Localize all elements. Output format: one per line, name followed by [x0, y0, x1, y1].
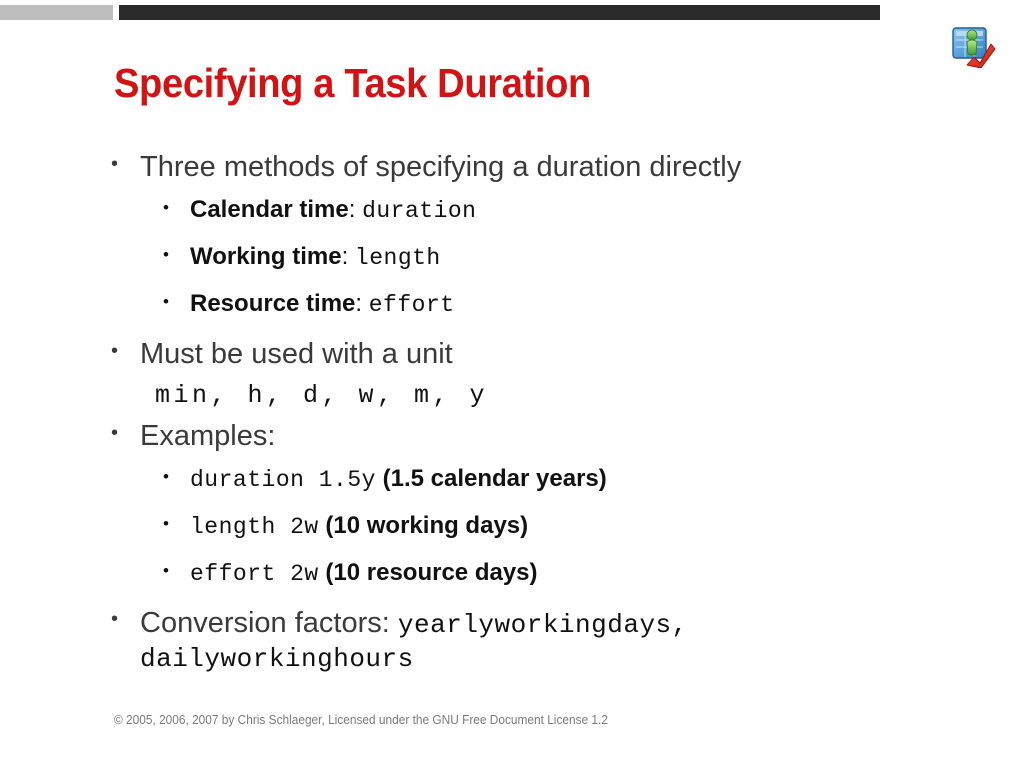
bullet-level1-examples: Examples:: [0, 421, 1024, 453]
list-item: Resource time: effort: [0, 291, 1024, 318]
example-code: length 2w: [190, 514, 319, 540]
sub-bullet-label: Resource time: [190, 290, 355, 317]
bullet-level1-three-methods: Three methods of specifying a duration d…: [0, 152, 1024, 184]
sub-bullet-group-examples: duration 1.5y (1.5 calendar years) lengt…: [0, 466, 1024, 588]
bullet-text: Examples:: [140, 420, 275, 452]
conversion-separator: :: [382, 607, 398, 639]
example-code: effort 2w: [190, 561, 319, 587]
bullet-text: Three methods of specifying a duration d…: [140, 151, 741, 183]
sub-bullet-code: length: [355, 245, 441, 271]
sub-bullet-code: duration: [362, 198, 476, 224]
units-list: min, h, d, w, m, y: [0, 381, 1024, 410]
slide-body: Three methods of specifying a duration d…: [0, 152, 1024, 680]
header-bar-right-dark: [119, 5, 880, 20]
conversion-label: Conversion factors: [140, 607, 382, 639]
example-code: duration 1.5y: [190, 467, 376, 493]
bullet-level1-must-be-used-with-unit: Must be used with a unit: [0, 339, 1024, 371]
sub-bullet-separator: :: [355, 290, 368, 317]
copyright-footer: © 2005, 2006, 2007 by Chris Schlaeger, L…: [114, 713, 608, 727]
page-title: Specifying a Task Duration: [114, 60, 591, 107]
sub-bullet-code: effort: [369, 292, 455, 318]
list-item: Calendar time: duration: [0, 197, 1024, 224]
list-item: length 2w (10 working days): [0, 513, 1024, 540]
example-note: (10 working days): [325, 512, 528, 539]
list-item: effort 2w (10 resource days): [0, 560, 1024, 587]
sub-bullet-group-methods: Calendar time: duration Working time: le…: [0, 197, 1024, 319]
list-item: duration 1.5y (1.5 calendar years): [0, 466, 1024, 493]
example-note: (10 resource days): [325, 559, 537, 586]
sub-bullet-separator: :: [342, 243, 355, 270]
taskjuggler-logo-icon: [951, 26, 997, 68]
sub-bullet-label: Working time: [190, 243, 342, 270]
bullet-level1-conversion-factors: Conversion factors: yearlyworkingdays, d…: [0, 607, 1024, 675]
list-item: Working time: length: [0, 244, 1024, 271]
sub-bullet-separator: :: [349, 196, 362, 223]
header-bar-left-gray: [0, 5, 113, 20]
sub-bullet-label: Calendar time: [190, 196, 349, 223]
example-note: (1.5 calendar years): [383, 465, 607, 492]
bullet-text: Must be used with a unit: [140, 338, 453, 370]
